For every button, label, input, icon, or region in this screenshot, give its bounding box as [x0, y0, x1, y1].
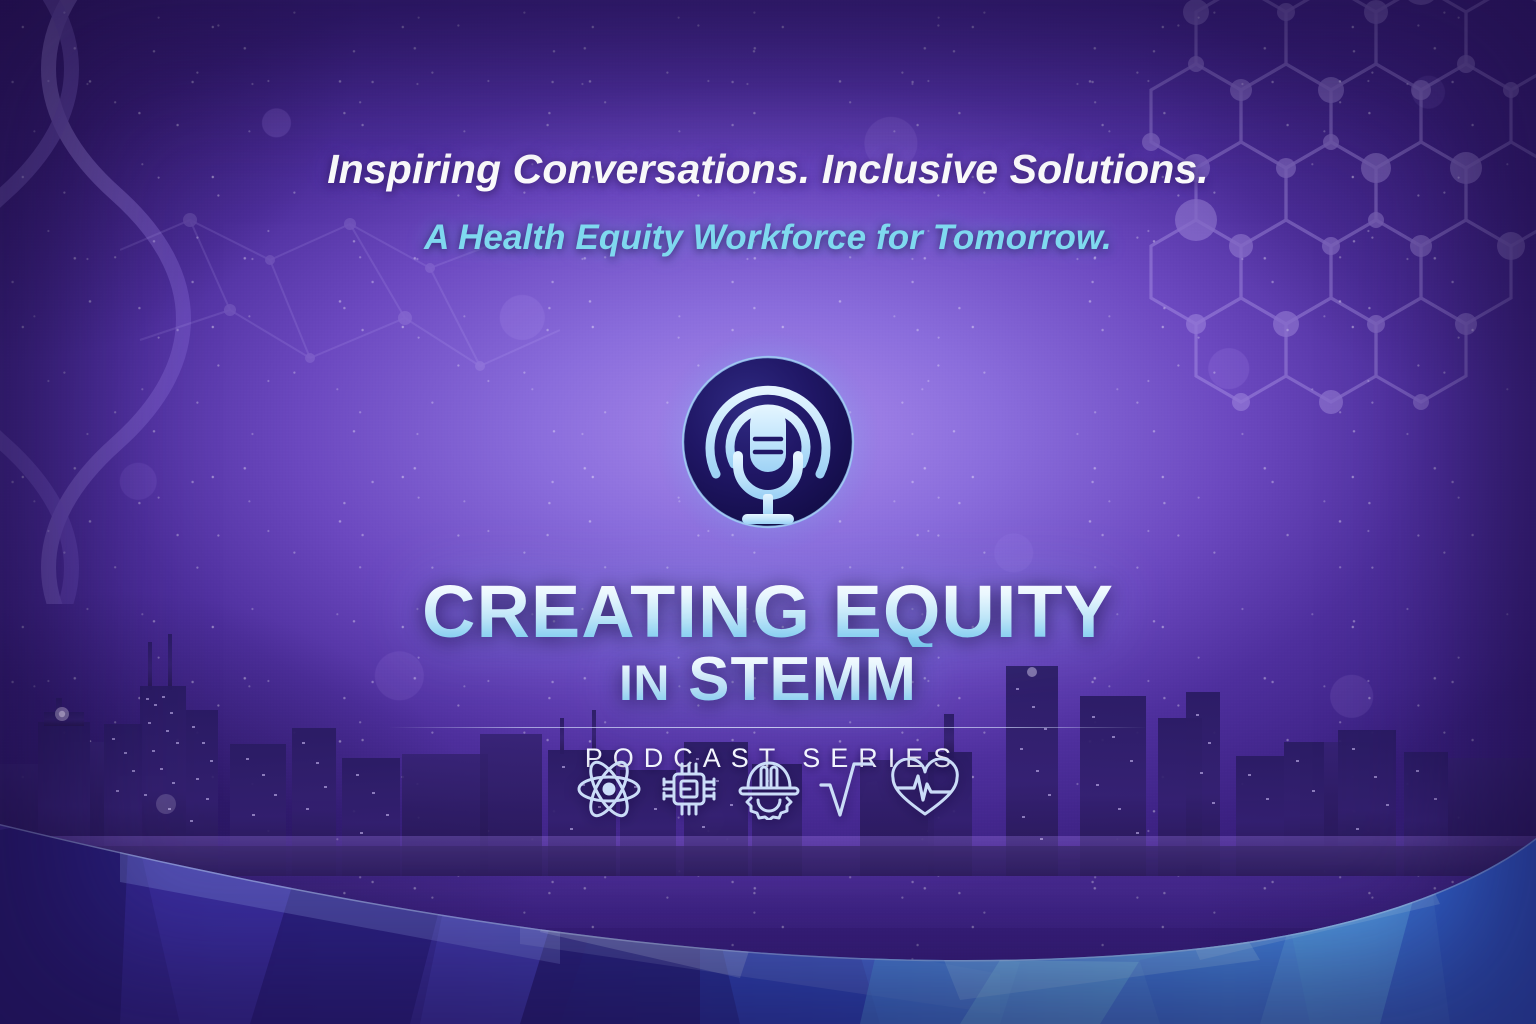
title-line-2-small: IN: [619, 655, 670, 711]
square-root-icon: [818, 759, 874, 819]
podcast-promo-poster: Inspiring Conversations. Inclusive Solut…: [0, 0, 1536, 1024]
hardhat-gear-icon: [736, 758, 802, 820]
atom-icon: [576, 759, 642, 819]
title-line-2: IN STEMM: [0, 649, 1536, 711]
heart-pulse-icon: [890, 758, 960, 820]
title-line-2-spacer: [670, 645, 688, 714]
logo-title-block: CREATING EQUITY IN STEMM PODCAST SERIES: [0, 576, 1536, 774]
microchip-icon: [658, 758, 720, 820]
podcast-microphone-icon: [654, 328, 882, 556]
title-line-1: CREATING EQUITY: [0, 576, 1536, 647]
tagline-primary: Inspiring Conversations. Inclusive Solut…: [0, 146, 1536, 193]
poster-content: Inspiring Conversations. Inclusive Solut…: [0, 0, 1536, 1024]
title-divider-rule: [388, 727, 1148, 728]
title-line-2-large: STEMM: [688, 645, 917, 714]
stemm-icon-row: [576, 758, 960, 820]
tagline-secondary: A Health Equity Workforce for Tomorrow.: [0, 218, 1536, 258]
